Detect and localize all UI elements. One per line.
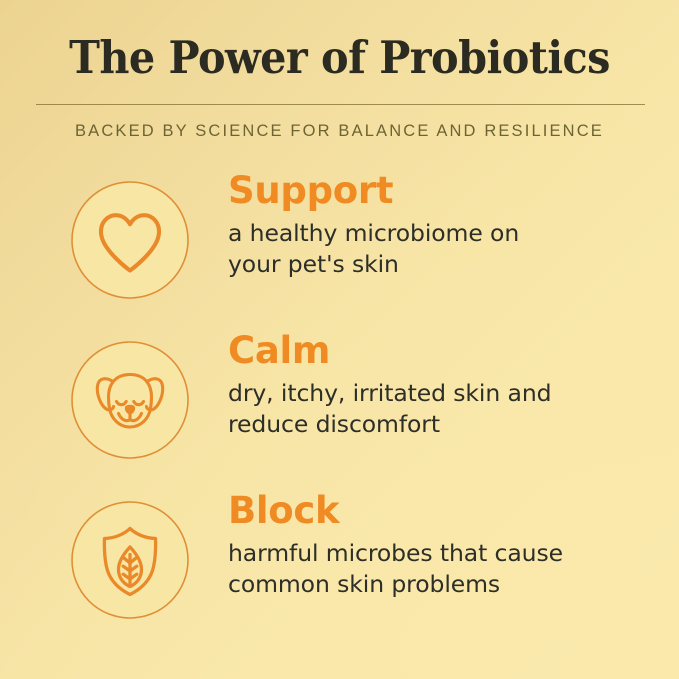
feature-list: Support a healthy microbiome on your pet… <box>0 172 679 652</box>
feature-body: harmful microbes that cause common skin … <box>228 538 658 601</box>
feature-heading: Block <box>228 492 658 529</box>
header: The Power of Probiotics BACKED BY SCIENC… <box>0 0 679 81</box>
shield-leaf-icon <box>70 500 190 620</box>
feature-item-block: Block harmful microbes that cause common… <box>0 492 679 652</box>
feature-heading: Calm <box>228 332 658 369</box>
page-subtitle: BACKED BY SCIENCE FOR BALANCE AND RESILI… <box>0 122 679 141</box>
heart-icon <box>70 180 190 300</box>
feature-item-support: Support a healthy microbiome on your pet… <box>0 172 679 332</box>
feature-text-calm: Calm dry, itchy, irritated skin and redu… <box>228 332 658 441</box>
feature-text-support: Support a healthy microbiome on your pet… <box>228 172 658 281</box>
feature-body: dry, itchy, irritated skin and reduce di… <box>228 378 658 441</box>
feature-heading: Support <box>228 172 658 209</box>
feature-text-block: Block harmful microbes that cause common… <box>228 492 658 601</box>
dog-face-icon <box>70 340 190 460</box>
probiotics-infographic: The Power of Probiotics BACKED BY SCIENC… <box>0 0 679 679</box>
page-title: The Power of Probiotics <box>27 0 652 81</box>
feature-item-calm: Calm dry, itchy, irritated skin and redu… <box>0 332 679 492</box>
header-divider <box>36 104 645 105</box>
feature-body: a healthy microbiome on your pet's skin <box>228 218 658 281</box>
